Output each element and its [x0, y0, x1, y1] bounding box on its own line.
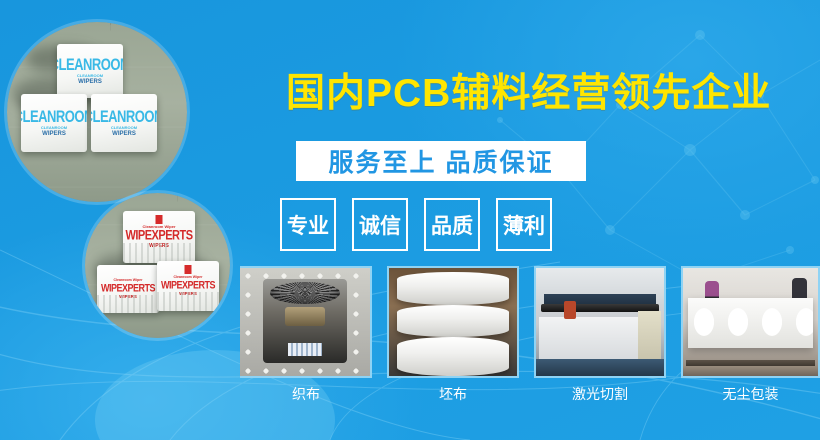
pack-brand: CLEANROOM: [21, 108, 87, 124]
process-photo-laser-cutting: [534, 266, 666, 378]
caption-cleanroom-pack: 无尘包装: [681, 381, 820, 407]
feature-tag-quality: 品质: [424, 198, 480, 251]
fabric-roll: [397, 337, 510, 376]
fabric-roll: [397, 305, 510, 337]
feature-tag-integrity: 诚信: [352, 198, 408, 251]
pack-subline-1: CLEANROOM: [77, 74, 103, 78]
subtitle-text: 服务至上 品质保证: [329, 143, 554, 179]
pack-brand: WIPEXPERTS: [161, 280, 215, 291]
pack-brand: CLEANROOM: [91, 108, 157, 124]
wipe-pack: CLEANROOM CLEANROOM WIPERS: [21, 94, 87, 152]
red-tab-icon: [185, 265, 192, 274]
caption-greige-fabric: 坯布: [387, 381, 519, 407]
pack-subline-2: WIPERS: [42, 131, 66, 137]
wipe-pack: CLEANROOM CLEANROOM WIPERS: [57, 44, 123, 98]
product-photo-cleanroom: CLEANROOM CLEANROOM WIPERS CLEANROOM CLE…: [7, 22, 187, 202]
feature-tag-lowprofit: 薄利: [496, 198, 552, 251]
feature-tag-professional: 专业: [280, 198, 336, 251]
product-photo-wipexperts: Cleanroom Wiper WIPEXPERTS WIPERS Cleanr…: [85, 193, 230, 338]
pack-brand: WIPEXPERTS: [101, 283, 155, 294]
machine-hub: [285, 307, 325, 326]
subtitle-box: 服务至上 品质保证: [296, 141, 586, 181]
wipe-pack: Cleanroom Wiper WIPEXPERTS WIPERS: [123, 211, 195, 263]
pack-brand: WIPEXPERTS: [125, 230, 192, 244]
process-caption-row: 织布 坯布 激光切割 无尘包装: [240, 381, 820, 407]
pack-brand: CLEANROOM: [57, 56, 123, 72]
fabric-roll: [397, 272, 510, 304]
process-photo-cleanroom-packing: [681, 266, 820, 378]
red-tab-icon: [156, 215, 163, 224]
pack-subline-1: CLEANROOM: [111, 126, 137, 130]
pack-ridges: [97, 295, 159, 313]
wipe-pack: CLEANROOM CLEANROOM WIPERS: [91, 94, 157, 152]
room-floor: [683, 366, 818, 376]
pack-subline-2: WIPERS: [78, 79, 102, 85]
caption-laser-cutting: 激光切割: [534, 381, 666, 407]
machine-base: [536, 359, 664, 376]
process-photo-strip: [240, 266, 820, 378]
side-panel: [638, 311, 661, 363]
pack-subline-1: CLEANROOM: [41, 126, 67, 130]
feature-tag-list: 专业 诚信 品质 薄利: [280, 198, 552, 251]
caption-weaving: 织布: [240, 381, 372, 407]
wipe-pack: Cleanroom Wiper WIPEXPERTS WIPERS: [97, 265, 159, 313]
pack-subline-2: WIPERS: [112, 131, 136, 137]
pack-ridges: [157, 292, 219, 311]
needle-ring: [270, 282, 340, 304]
fabric-tray: [288, 343, 321, 356]
cleanroom-scene: Cleanroom Wiper WIPEXPERTS WIPERS Cleanr…: [85, 193, 230, 338]
promo-banner: CLEANROOM CLEANROOM WIPERS CLEANROOM CLE…: [0, 0, 820, 440]
wipe-pack: Cleanroom Wiper WIPEXPERTS WIPERS: [157, 261, 219, 311]
laser-head: [564, 301, 576, 318]
packed-wipe-bags: [688, 298, 812, 348]
machine-frame: [263, 279, 346, 363]
cleanroom-scene: CLEANROOM CLEANROOM WIPERS CLEANROOM CLE…: [7, 22, 187, 202]
process-photo-weaving: [240, 266, 372, 378]
page-title: 国内PCB辅料经营领先企业: [286, 74, 771, 113]
process-photo-greige-fabric: [387, 266, 519, 378]
